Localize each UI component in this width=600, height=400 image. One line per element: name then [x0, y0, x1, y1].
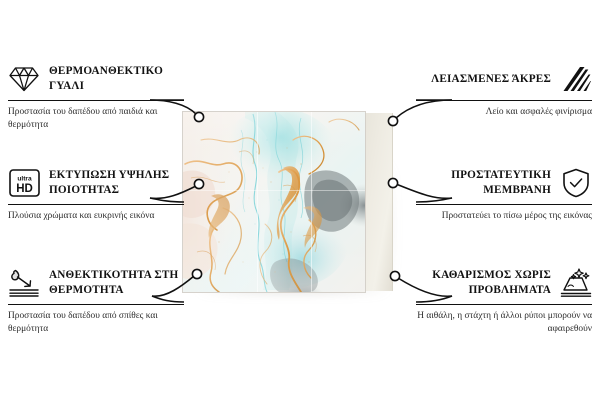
flame-deflect-icon — [8, 267, 40, 299]
marble-artwork — [183, 112, 365, 292]
feature-protective-membrane: ΠΡΟΣΤΑΤΕΥΤΙΚΗ ΜΕΜΒΡΑΝΗ Προστατεύει το πί… — [416, 166, 592, 223]
feature-divider — [8, 100, 184, 101]
feature-divider — [416, 100, 592, 101]
feature-description: Προστασία του δαπέδου από σπίθες και θερ… — [8, 310, 184, 337]
product-feature-infographic: ΘΕΡΜΟΑΝΘΕΚΤΙΚΟ ΓΥΑΛΙ Προστασία του δαπέδ… — [0, 0, 600, 400]
feature-title: ΛΕΙΑΣΜΕΝΕΣ ΆΚΡΕΣ — [416, 72, 551, 87]
diamond-icon — [8, 63, 40, 95]
feature-description: Προστατεύει το πίσω μέρος της εικόνας — [416, 210, 592, 223]
sponge-sparkle-icon — [560, 267, 592, 299]
feature-trouble-free-cleaning: ΚΑΘΑΡΙΣΜΟΣ ΧΩΡΙΣ ΠΡΟΒΛΗΜΑΤΑ Η αιθάλη, η … — [416, 266, 592, 337]
feature-title: ΚΑΘΑΡΙΣΜΟΣ ΧΩΡΙΣ ΠΡΟΒΛΗΜΑΤΑ — [416, 268, 551, 298]
feature-header: ultra HD ΕΚΤΥΠΩΣΗ ΥΨΗΛΗΣ ΠΟΙΟΤΗΤΑΣ — [8, 166, 184, 200]
ultra-hd-top-label: ultra — [17, 176, 32, 183]
feature-title: ΑΝΘΕΚΤΙΚΟΤΗΤΑ ΣΤΗ ΘΕΡΜΟΤΗΤΑ — [49, 268, 184, 298]
feature-title: ΠΡΟΣΤΑΤΕΥΤΙΚΗ ΜΕΜΒΡΑΝΗ — [416, 168, 551, 198]
feature-description: Λείο και ασφαλές φινίρισμα — [416, 106, 592, 119]
feature-header: ΠΡΟΣΤΑΤΕΥΤΙΚΗ ΜΕΜΒΡΑΝΗ — [416, 166, 592, 200]
feature-description: Προστασία του δαπέδου από παιδιά και θερ… — [8, 106, 184, 133]
feature-divider — [8, 304, 184, 305]
glass-reflection-line-vertical-2 — [311, 112, 312, 292]
feature-heat-resistance: ΑΝΘΕΚΤΙΚΟΤΗΤΑ ΣΤΗ ΘΕΡΜΟΤΗΤΑ Προστασία το… — [8, 266, 184, 337]
product-front-face — [183, 112, 365, 292]
feature-header: ΘΕΡΜΟΑΝΘΕΚΤΙΚΟ ΓΥΑΛΙ — [8, 62, 184, 96]
product-side-panel — [362, 113, 393, 291]
feature-high-quality-print: ultra HD ΕΚΤΥΠΩΣΗ ΥΨΗΛΗΣ ΠΟΙΟΤΗΤΑΣ Πλούσ… — [8, 166, 184, 223]
ultra-hd-bottom-label: HD — [16, 183, 33, 195]
glass-reflection-line-horizontal — [183, 190, 365, 191]
feature-header: ΑΝΘΕΚΤΙΚΟΤΗΤΑ ΣΤΗ ΘΕΡΜΟΤΗΤΑ — [8, 266, 184, 300]
diagonal-stripes-icon — [560, 63, 592, 95]
feature-description: Η αιθάλη, η στάχτη ή άλλοι ρύποι μπορούν… — [416, 310, 592, 337]
feature-description: Πλούσια χρώματα και ευκρινής εικόνα — [8, 210, 184, 223]
feature-polished-edges: ΛΕΙΑΣΜΕΝΕΣ ΆΚΡΕΣ Λείο και ασφαλές φινίρι… — [416, 62, 592, 119]
shield-check-icon — [560, 167, 592, 199]
feature-divider — [416, 304, 592, 305]
feature-divider — [416, 204, 592, 205]
product-image — [183, 112, 393, 292]
feature-header: ΛΕΙΑΣΜΕΝΕΣ ΆΚΡΕΣ — [416, 62, 592, 96]
feature-divider — [8, 204, 184, 205]
ultra-hd-badge-icon: ultra HD — [8, 167, 40, 199]
glass-reflection-line-vertical-1 — [257, 112, 258, 292]
feature-title: ΕΚΤΥΠΩΣΗ ΥΨΗΛΗΣ ΠΟΙΟΤΗΤΑΣ — [49, 168, 184, 198]
feature-thermal-resistant-glass: ΘΕΡΜΟΑΝΘΕΚΤΙΚΟ ΓΥΑΛΙ Προστασία του δαπέδ… — [8, 62, 184, 133]
feature-title: ΘΕΡΜΟΑΝΘΕΚΤΙΚΟ ΓΥΑΛΙ — [49, 64, 184, 94]
feature-header: ΚΑΘΑΡΙΣΜΟΣ ΧΩΡΙΣ ΠΡΟΒΛΗΜΑΤΑ — [416, 266, 592, 300]
